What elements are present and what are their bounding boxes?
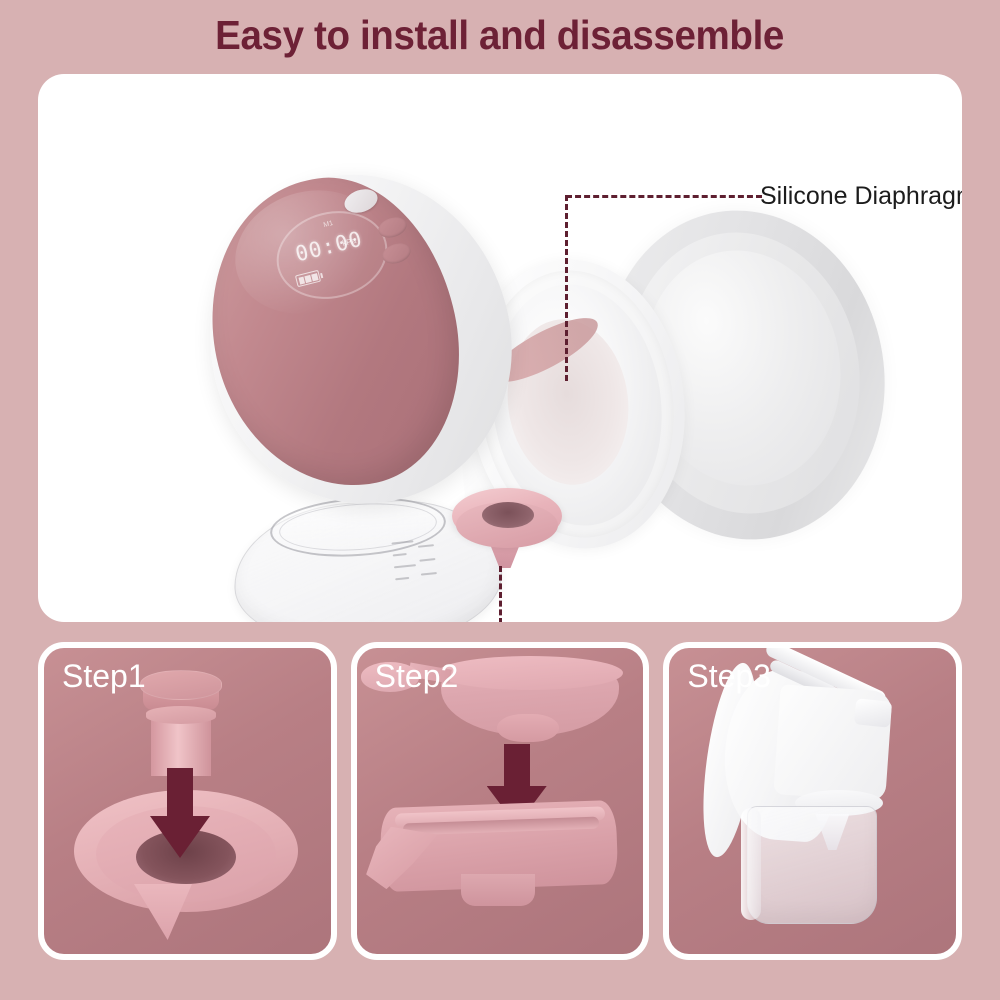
- assembled-collector-cup: [747, 806, 877, 924]
- step-3-label: Step3: [687, 658, 771, 695]
- diaphragm-bowl-nub: [497, 714, 559, 742]
- step-2-label: Step2: [375, 658, 459, 695]
- step-1-arrow-shaft: [167, 768, 193, 824]
- diaphragm-bowl-rim: [437, 656, 623, 690]
- assembled-shield-clip: [854, 698, 893, 728]
- valve-collar: [146, 706, 216, 724]
- diaphragm-leader-line-horizontal: [566, 195, 762, 198]
- diaphragm-leader-line-vertical: [565, 195, 568, 381]
- step-1-label: Step1: [62, 658, 146, 695]
- hero-product-card: M1 00:00 kPa Silicone Diaphragm Silicone…: [38, 74, 962, 622]
- duckbill-valve-part: [140, 670, 222, 700]
- lcd-mode-indicator: M1: [323, 220, 334, 229]
- step-panel-3: Step3: [663, 642, 962, 960]
- flange-base-fin: [134, 884, 192, 940]
- flange-assembly-foot: [461, 874, 535, 906]
- page-title: Easy to install and disassemble: [216, 12, 785, 59]
- collector-measurement-scale: [391, 534, 443, 598]
- duckbill-leader-line-vertical: [499, 566, 502, 622]
- duckbill-valve-opening: [482, 502, 534, 528]
- callout-label-silicone-diaphragm: Silicone Diaphragm: [760, 182, 962, 211]
- step-panel-2: Step2: [351, 642, 650, 960]
- lcd-digits: 00:00: [293, 227, 365, 267]
- step-panel-1: Step1: [38, 642, 337, 960]
- assembly-steps-row: Step1 Step2: [38, 642, 962, 960]
- assembled-collector-edge: [741, 808, 761, 920]
- battery-icon: [295, 270, 321, 287]
- page-header: Easy to install and disassemble: [0, 0, 1000, 70]
